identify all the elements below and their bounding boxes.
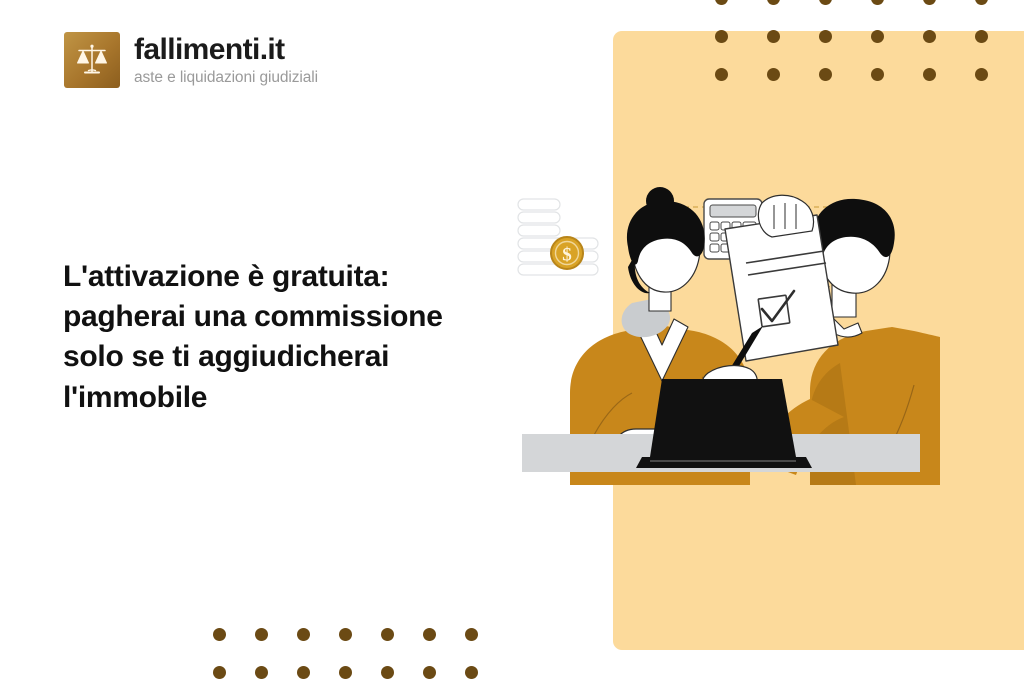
dot: [767, 30, 780, 43]
dot: [975, 0, 988, 5]
dot: [255, 628, 268, 641]
dot: [465, 628, 478, 641]
dollar-coin-icon: $: [551, 237, 583, 269]
dot: [423, 666, 436, 679]
dot: [819, 30, 832, 43]
dot: [715, 30, 728, 43]
dot: [381, 628, 394, 641]
dot: [871, 68, 884, 81]
brand-name: fallimenti.it: [134, 35, 318, 65]
dot: [819, 68, 832, 81]
dot: [213, 628, 226, 641]
contract-document-icon: [725, 215, 838, 361]
dot: [715, 68, 728, 81]
dot: [381, 666, 394, 679]
brand-text: fallimenti.it aste e liquidazioni giudiz…: [134, 35, 318, 86]
brand-logo[interactable]: fallimenti.it aste e liquidazioni giudiz…: [64, 32, 318, 88]
dot: [339, 666, 352, 679]
dot: [923, 0, 936, 5]
dot: [297, 628, 310, 641]
dot: [339, 628, 352, 641]
hand-holding-document: [758, 195, 813, 237]
dot: [297, 666, 310, 679]
svg-text:$: $: [562, 245, 572, 266]
decorative-dot-grid-bottom-left: [213, 628, 507, 682]
page-title: L'attivazione è gratuita: pagherai una c…: [63, 257, 463, 418]
decorative-dot-grid-top-right: [715, 0, 1024, 106]
dot: [871, 0, 884, 5]
dot: [767, 68, 780, 81]
business-meeting-illustration: $: [510, 185, 940, 485]
dot: [871, 30, 884, 43]
dot: [819, 0, 832, 5]
dot: [465, 666, 478, 679]
laptop-icon: [636, 379, 812, 468]
dot: [767, 0, 780, 5]
dot: [975, 30, 988, 43]
dot: [923, 68, 936, 81]
slide-canvas: fallimenti.it aste e liquidazioni giudiz…: [0, 0, 1024, 682]
dot: [213, 666, 226, 679]
scales-of-justice-icon: [64, 32, 120, 88]
dot: [423, 628, 436, 641]
dot: [715, 0, 728, 5]
dot: [923, 30, 936, 43]
dot: [255, 666, 268, 679]
brand-tagline: aste e liquidazioni giudiziali: [134, 70, 318, 86]
dot: [975, 68, 988, 81]
